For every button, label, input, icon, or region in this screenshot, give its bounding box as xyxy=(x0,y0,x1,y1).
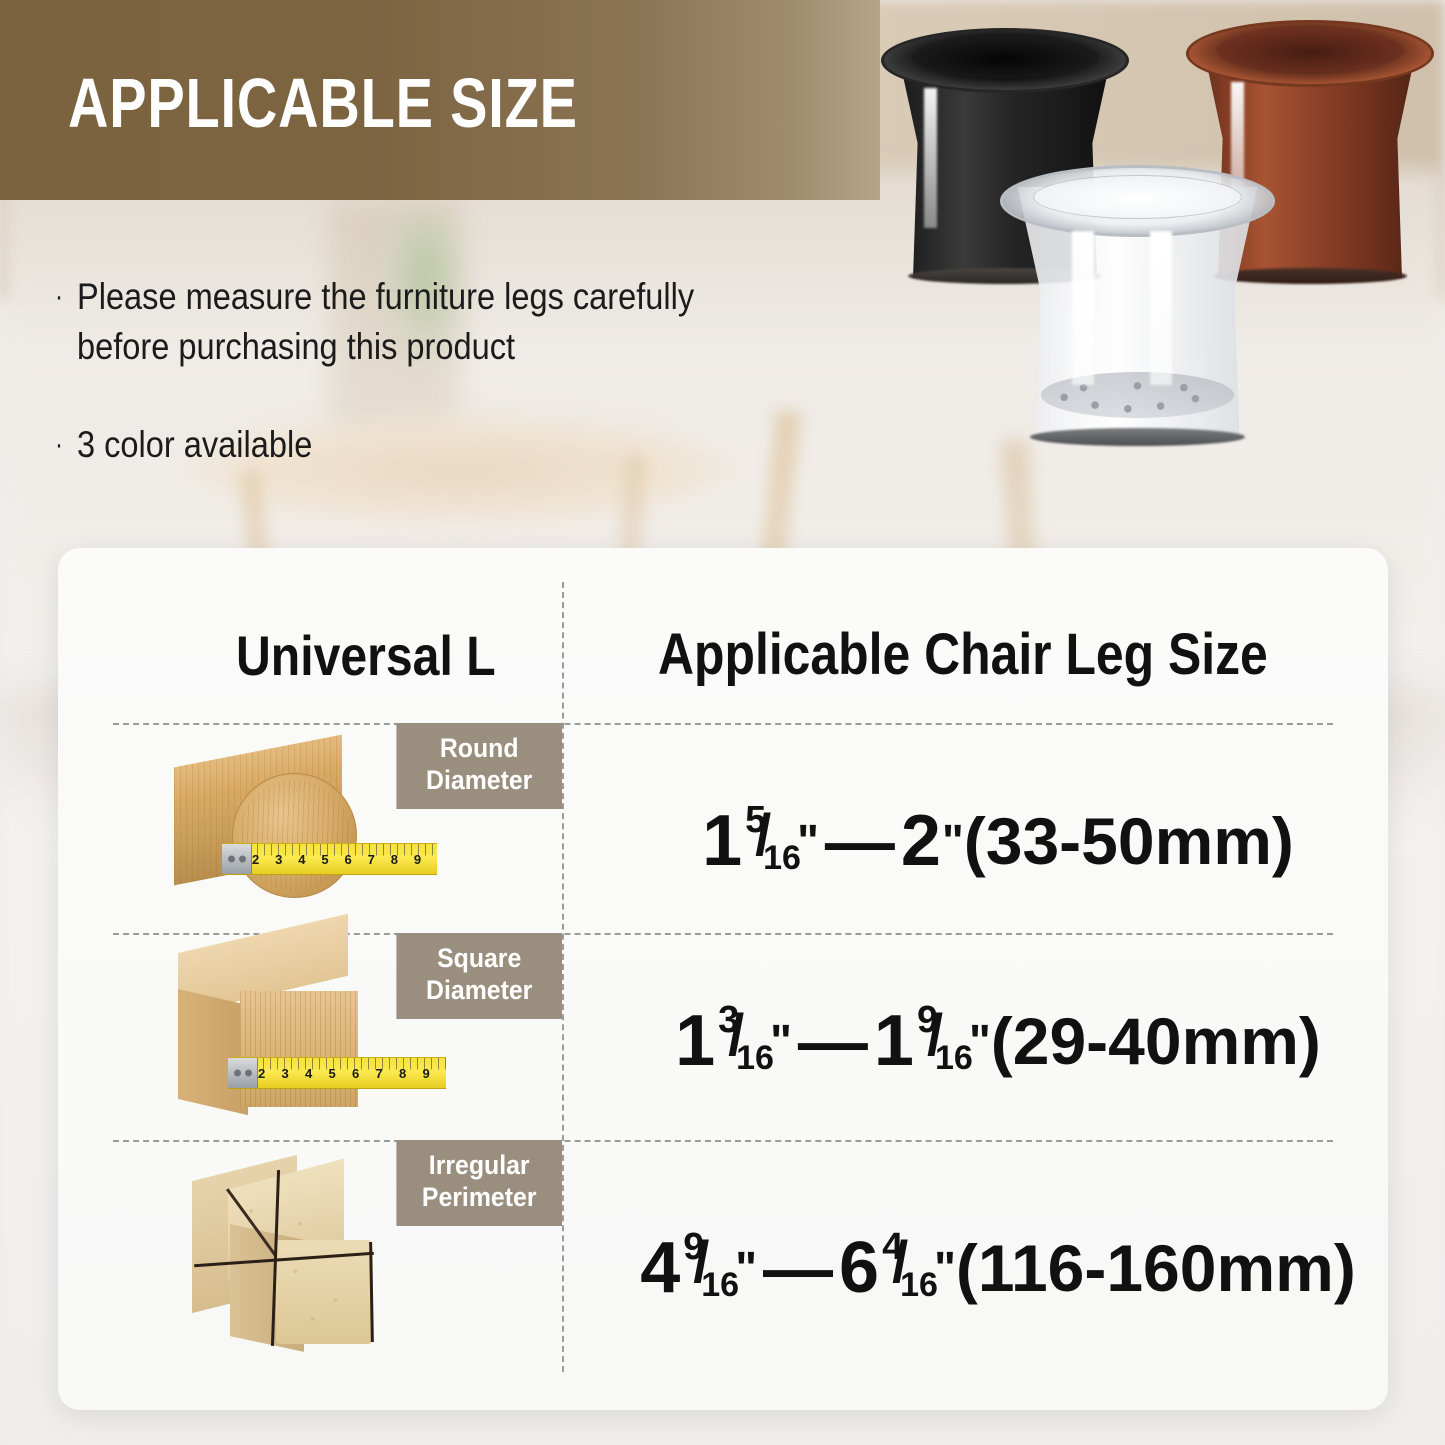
cap-inner-cavity xyxy=(1216,28,1405,72)
value-whole: 1 xyxy=(874,1005,914,1077)
value-whole: 4 xyxy=(640,1232,680,1304)
inch-mark: " xyxy=(942,818,964,864)
value-whole: 1 xyxy=(675,1005,715,1077)
cap-highlight xyxy=(924,88,937,228)
list-item: · 3 color available xyxy=(55,420,955,470)
cap-anti-slip-dots xyxy=(1041,372,1235,418)
row-label-round-diameter: Round Diameter xyxy=(396,723,562,809)
fraction-denominator: 16 xyxy=(701,1268,739,1302)
metric-value: (29-40mm) xyxy=(991,1008,1321,1074)
size-value-round: 1 5 / 16 " — 2 " (33-50mm) xyxy=(618,805,1378,877)
fraction: 9 / 16 xyxy=(915,1005,967,1077)
table-row: 23456789 Round Diameter 1 5 / 16 " — 2 "… xyxy=(58,723,1388,933)
leg-end-face xyxy=(232,773,357,898)
range-dash: — xyxy=(825,806,895,876)
measuring-string xyxy=(369,1242,374,1342)
fraction: 9 / 16 xyxy=(681,1232,733,1304)
cap-highlight xyxy=(1072,231,1094,385)
fraction-denominator: 16 xyxy=(736,1041,774,1075)
size-value-irregular: 4 9 / 16 " — 6 4 / 16 " (116-160mm) xyxy=(618,1232,1378,1304)
size-value-square: 1 3 / 16 " — 1 9 / 16 " (29-40mm) xyxy=(618,1005,1378,1077)
bullet-marker: · xyxy=(55,430,63,460)
chair-leg-cap-clear xyxy=(1010,165,1265,440)
tape-measure-icon: 23456789 xyxy=(222,843,437,875)
value-whole: 1 xyxy=(702,805,742,877)
list-item: · Please measure the furniture legs care… xyxy=(55,272,955,372)
bullet-marker: · xyxy=(55,282,63,312)
page-title: APPLICABLE SIZE xyxy=(68,68,578,138)
notes-list: · Please measure the furniture legs care… xyxy=(55,272,955,470)
fraction: 3 / 16 xyxy=(716,1005,768,1077)
table-row: Irregular Perimeter 4 9 / 16 " — 6 4 / 1… xyxy=(58,1140,1388,1372)
fraction: 5 / 16 xyxy=(743,805,795,877)
cap-inner-cavity xyxy=(911,36,1100,79)
metric-value: (33-50mm) xyxy=(964,808,1294,874)
fraction-denominator: 16 xyxy=(935,1041,973,1075)
value-whole: 2 xyxy=(901,805,941,877)
range-dash: — xyxy=(798,1006,868,1076)
table-row: 23456789 Square Diameter 1 3 / 16 " — 1 … xyxy=(58,933,1388,1140)
size-table-card: Universal L Applicable Chair Leg Size 23… xyxy=(58,548,1388,1410)
row-label-square-diameter: Square Diameter xyxy=(396,933,562,1019)
fraction-denominator: 16 xyxy=(900,1268,938,1302)
range-dash: — xyxy=(763,1233,833,1303)
cap-felt-pad xyxy=(1030,428,1244,446)
tape-measure-icon: 23456789 xyxy=(228,1057,446,1089)
value-whole: 6 xyxy=(839,1232,879,1304)
bullet-text: 3 color available xyxy=(77,420,312,470)
fraction-denominator: 16 xyxy=(763,841,801,875)
leg-front-face xyxy=(240,991,358,1107)
leg-side-face xyxy=(178,989,248,1115)
table-header-universal: Universal L xyxy=(236,628,496,684)
header-banner: APPLICABLE SIZE xyxy=(0,0,880,200)
bullet-text: Please measure the furniture legs carefu… xyxy=(77,272,694,372)
metric-value: (116-160mm) xyxy=(956,1235,1356,1301)
fraction: 4 / 16 xyxy=(880,1232,932,1304)
cap-highlight xyxy=(1150,231,1172,385)
table-header-chair-leg-size: Applicable Chair Leg Size xyxy=(658,626,1268,684)
row-label-irregular-perimeter: Irregular Perimeter xyxy=(396,1140,562,1226)
cap-inner-cavity xyxy=(1033,175,1242,219)
